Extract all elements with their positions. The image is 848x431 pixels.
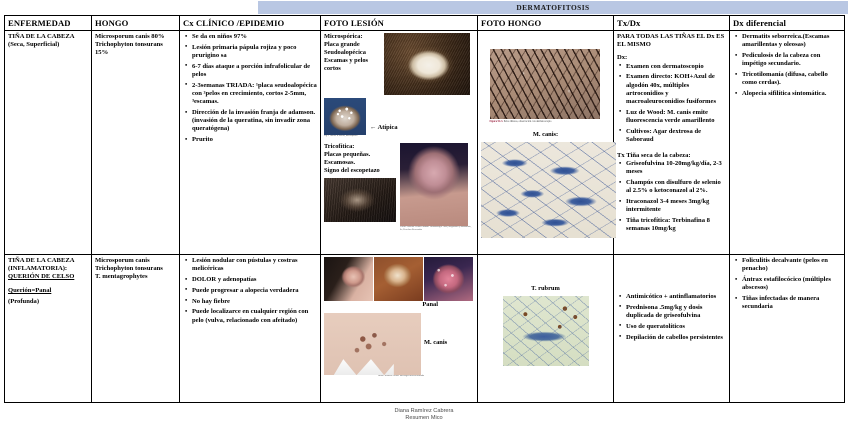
photo-kerion-3 bbox=[424, 257, 473, 301]
document-page: DERMATOFITOSIS ENFERMEDAD HONGO Cx CLÍNI… bbox=[0, 0, 848, 431]
cell-enfermedad-inflamatoria: TIÑA DE LA CABEZA (INFLAMATORIA): QUERIÓ… bbox=[5, 255, 92, 403]
microsporica-line-2: Seudoalopécica bbox=[324, 49, 384, 57]
cell-clinico-inflamatoria: Lesión nodular con pústulas y costras me… bbox=[180, 255, 321, 403]
list-item: Griseofulvina 10-20mg/kg/día, 2-3 meses bbox=[626, 160, 726, 176]
list-item: 6-7 días ataque a porción infrafolicular… bbox=[192, 63, 317, 79]
list-item: 2-3semanas TRIADA: ¹placa seudoalopécica… bbox=[192, 82, 317, 107]
enfermedad-name: TIÑA DE LA CABEZA bbox=[8, 257, 88, 265]
list-item: Examen directo: KOH+Azul de algodón 40x,… bbox=[626, 73, 726, 106]
list-item: Lesión primaria pápula rojiza y poco pru… bbox=[192, 44, 317, 60]
figure-caption: Figura 94-3. Pelos tiñosos, observación … bbox=[490, 120, 602, 123]
photo-tricofitica-scalp bbox=[324, 178, 396, 222]
cell-txdx-seca: PARA TODAS LAS TIÑAS EL Dx ES EL MISMO D… bbox=[614, 31, 730, 255]
figure-caption-text: Pelos tiñosos, observación con dermatosc… bbox=[504, 120, 552, 123]
banner-title: DERMATOFITOSIS bbox=[516, 3, 589, 12]
document-banner: DERMATOFITOSIS bbox=[258, 1, 848, 14]
kerion-credit: Fuente: Roberto Arenas Guzmán. Dermatolo… bbox=[400, 226, 472, 232]
microsporica-title: Microspórica: bbox=[324, 33, 384, 41]
list-item: Tiña tricofítica: Terbinafina 8 semanas … bbox=[626, 217, 726, 233]
cell-txdx-inflamatoria: Antimicótico + antinflamatorios Predniso… bbox=[614, 255, 730, 403]
hongo-line-2: Trichophyton tonsurans bbox=[95, 265, 176, 273]
tx-title: Tx Tiña seca de la cabeza: bbox=[617, 152, 726, 160]
list-item: Cultivos: Agar dextrosa de Saboraud bbox=[626, 128, 726, 144]
column-header-hongo: HONGO bbox=[92, 16, 180, 31]
microsporica-line-4: cortos bbox=[324, 65, 384, 73]
table-row: TIÑA DE LA CABEZA (INFLAMATORIA): QUERIÓ… bbox=[5, 255, 845, 403]
trunk-credit: Fuente: Roberto Arenas. Micología Médica… bbox=[324, 375, 424, 378]
footer-author: Diana Ramírez Cabrera bbox=[0, 408, 848, 415]
list-item: Se da en niños 97% bbox=[192, 33, 317, 41]
tricofitica-line-3: Signo del escopetazo bbox=[324, 167, 400, 175]
microsporica-line-3: Escamas y pelos bbox=[324, 57, 384, 65]
panal-label: Panal bbox=[422, 301, 438, 308]
list-item: Uso de queratolíticos bbox=[626, 323, 726, 331]
microsporica-line-1: Placa grande bbox=[324, 41, 384, 49]
list-item: Prednisona .5mg/kg y dosis duplicada de … bbox=[626, 304, 726, 320]
list-item: Dirección de la invasión franja de adams… bbox=[192, 109, 317, 134]
column-header-txdx: Tx/Dx bbox=[614, 16, 730, 31]
txdx-intro: PARA TODAS LAS TIÑAS EL Dx ES EL MISMO bbox=[617, 33, 726, 49]
footer-subtitle: Resumen Mico bbox=[0, 415, 848, 422]
dxdif-bullet-list: Dermatits seborreica.(Escamas amarillent… bbox=[733, 33, 841, 98]
list-item: Champús con disulfuro de selenio al 2.5%… bbox=[626, 179, 726, 195]
hongo-line-1: Microsporum canis 80% bbox=[95, 33, 176, 41]
hongo-line-2: Trichophyton tonsurans bbox=[95, 41, 176, 49]
cell-foto-lesion-seca: Microspórica: Placa grande Seudoalopécic… bbox=[321, 31, 478, 255]
clinico-bullet-list: Lesión nodular con pústulas y costras me… bbox=[183, 257, 317, 325]
hongo-line-1: Microsporum canis bbox=[95, 257, 176, 265]
cell-hongo-seca: Microsporum canis 80% Trichophyton tonsu… bbox=[92, 31, 180, 255]
photo-trubrum-micro bbox=[503, 296, 589, 366]
list-item: Pediculosis de la cabeza con impétigo se… bbox=[742, 52, 841, 68]
enfermedad-kerion: QUERIÓN DE CELSO bbox=[8, 273, 88, 281]
photo-kerion-1 bbox=[324, 257, 373, 301]
tx-bullet-list: Griseofulvina 10-20mg/kg/día, 2-3 meses … bbox=[617, 160, 726, 233]
column-header-foto-hongo: FOTO HONGO bbox=[478, 16, 614, 31]
trubrum-label: T. rubrum bbox=[531, 285, 560, 292]
atipica-credit: Fig. 1 Tiña de la cabeza, microspórica bbox=[324, 135, 370, 138]
txdx-bullet-list: Antimicótico + antinflamatorios Predniso… bbox=[617, 293, 726, 342]
dx-bullet-list: Examen con dermatoscopio Examen directo:… bbox=[617, 63, 726, 145]
column-header-clinico: Cx CLÍNICO /EPIDEMIO bbox=[180, 16, 321, 31]
list-item: Tricotilomanía (difusa, cabello como cer… bbox=[742, 71, 841, 87]
list-item: Antimicótico + antinflamatorios bbox=[626, 293, 726, 301]
list-item: Itraconazol 3-4 meses 3mg/kg intermitent… bbox=[626, 198, 726, 214]
figure-label: Figura 94-3. bbox=[490, 120, 504, 123]
table-row: TIÑA DE LA CABEZA (Seca, Superficial) Mi… bbox=[5, 31, 845, 255]
list-item: DOLOR y adenopatías bbox=[192, 276, 317, 284]
tricofitica-title: Tricofítica: bbox=[324, 143, 400, 151]
cell-dxdif-inflamatoria: Foliculitis decalvante (pelos en penacho… bbox=[730, 255, 845, 403]
photo-atipica-head bbox=[324, 98, 366, 135]
tricofitica-line-2: Escamosas. bbox=[324, 159, 400, 167]
tricofitica-line-1: Placas pequeñas. bbox=[324, 151, 400, 159]
column-header-enfermedad: ENFERMEDAD bbox=[5, 16, 92, 31]
clinico-bullet-list: Se da en niños 97% Lesión primaria pápul… bbox=[183, 33, 317, 144]
column-header-dx-diferencial: Dx diferencial bbox=[730, 16, 845, 31]
cell-dxdif-seca: Dermatits seborreica.(Escamas amarillent… bbox=[730, 31, 845, 255]
photo-mcanis-micro bbox=[481, 142, 616, 238]
list-item: Puede progresar a alopecia verdadera bbox=[192, 287, 317, 295]
list-item: Foliculitis decalvante (pelos en penacho… bbox=[742, 257, 841, 273]
table-header-row: ENFERMEDAD HONGO Cx CLÍNICO /EPIDEMIO FO… bbox=[5, 16, 845, 31]
mcanis-label: M. canis bbox=[424, 339, 447, 346]
enfermedad-subtitle: (Seca, Superficial) bbox=[8, 41, 88, 49]
enfermedad-name: TIÑA DE LA CABEZA bbox=[8, 33, 88, 41]
photo-trunk-lesion bbox=[324, 313, 421, 375]
list-item: Luz de Wood: M. canis emite fluorescenci… bbox=[626, 109, 726, 125]
list-item: Dermatits seborreica.(Escamas amarillent… bbox=[742, 33, 841, 49]
list-item: No hay fiebre bbox=[192, 298, 317, 306]
dermatofitosis-table: ENFERMEDAD HONGO Cx CLÍNICO /EPIDEMIO FO… bbox=[4, 15, 845, 403]
photo-kerion-2 bbox=[374, 257, 423, 301]
dxdif-bullet-list: Foliculitis decalvante (pelos en penacho… bbox=[733, 257, 841, 311]
cell-hongo-inflamatoria: Microsporum canis Trichophyton tonsurans… bbox=[92, 255, 180, 403]
hongo-line-3: T. mentagrophytes bbox=[95, 273, 176, 281]
cell-foto-hongo-inflamatoria: T. rubrum bbox=[478, 255, 614, 403]
dx-title: Dx: bbox=[617, 54, 726, 62]
list-item: Puede localizarce en cualquier región co… bbox=[192, 308, 317, 324]
column-header-foto-lesion: FOTO LESIÓN bbox=[321, 16, 478, 31]
mcanis-label: M. canis: bbox=[533, 131, 558, 138]
list-item: Prurito bbox=[192, 136, 317, 144]
photo-kerion-occiput bbox=[400, 143, 468, 226]
list-item: Tiñas infectadas de manera secundaria bbox=[742, 295, 841, 311]
photo-microsporica-scalp bbox=[384, 33, 470, 95]
list-item: Alopecia sifilítica sintomática. bbox=[742, 90, 841, 98]
list-item: Examen con dermatoscopio bbox=[626, 63, 726, 71]
list-item: Depilación de cabellos persistentes bbox=[626, 334, 726, 342]
enfermedad-depth: (Profunda) bbox=[8, 298, 88, 306]
cell-enfermedad-seca: TIÑA DE LA CABEZA (Seca, Superficial) bbox=[5, 31, 92, 255]
cell-foto-hongo-seca: Figura 94-3. Pelos tiñosos, observación … bbox=[478, 31, 614, 255]
cell-foto-lesion-inflamatoria: Panal Fuente: Roberto Arenas. Micología … bbox=[321, 255, 478, 403]
document-footer: Diana Ramírez Cabrera Resumen Mico bbox=[0, 408, 848, 423]
list-item: Ántrax estafilocócico (múltiples absceso… bbox=[742, 276, 841, 292]
enfermedad-equals: Querión=Panal bbox=[8, 287, 88, 295]
cell-clinico-seca: Se da en niños 97% Lesión primaria pápul… bbox=[180, 31, 321, 255]
hongo-line-3: 15% bbox=[95, 49, 176, 57]
photo-dermatoscopia bbox=[490, 49, 600, 119]
list-item: Lesión nodular con pústulas y costras me… bbox=[192, 257, 317, 273]
atipica-arrow-label: ← Atípica bbox=[370, 124, 398, 131]
